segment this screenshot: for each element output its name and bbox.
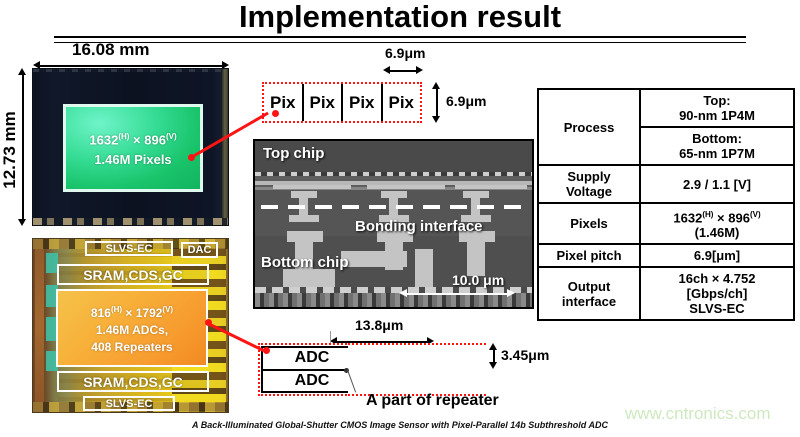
table-row-supply-voltage: SupplyVoltage 2.9 / 1.1 [V] [538,165,794,203]
adc-array-count: 1.46M ADCs, [96,322,168,339]
table-row-pixel-pitch: Pixel pitch 6.9[μm] [538,244,794,267]
die-edge-right [222,69,228,225]
spec-label-output-interface: Outputinterface [538,267,640,320]
pix-width-label: 6.9μm [385,45,425,61]
table-row-output-interface: Outputinterface 16ch × 4.752[Gbps/ch]SLV… [538,267,794,320]
die-pad-row-bottom [33,218,228,225]
adc-width-label: 13.8μm [355,317,403,333]
spec-label-supply-voltage: SupplyVoltage [538,165,640,203]
adc-array-overlay: 816(H) × 1792(V) 1.46M ADCs, 408 Repeate… [56,289,208,367]
sem-label-bonding-interface: Bonding interface [355,218,483,235]
pointer-dot-adc-box [263,347,270,354]
spec-value-process-top: Top:90-nm 1P4M [640,89,794,127]
block-label-slvs-ec-top: SLVS-EC [85,241,173,256]
pixel-array-count: 1.46M Pixels [94,150,171,169]
pix-height-label: 6.9μm [446,93,486,109]
sem-plate-1 [283,269,335,287]
adc-array-resolution: 816(H) × 1792(V) [91,301,173,322]
top-die-height-arrow [18,68,27,226]
sem-metal-line-a [255,172,532,176]
spec-label-pixels: Pixels [538,203,640,244]
spec-value-supply-voltage: 2.9 / 1.1 [V] [640,165,794,203]
spec-value-process-bottom: Bottom:65-nm 1P7M [640,127,794,165]
sem-cross-section: Top chip Bonding interface Bottom chip 1… [253,139,534,309]
die-left-strip [35,239,44,412]
sem-scale-bar [399,289,515,298]
sem-top-line-2 [367,185,445,189]
spec-label-pixel-pitch: Pixel pitch [538,244,640,267]
spec-label-process: Process [538,89,640,165]
adc-height-arrow [489,343,498,369]
pix-height-arrow [432,82,441,123]
bonding-interface-dashed-line [261,205,526,209]
pixel-cell: Pix [304,84,344,121]
repeater-label: A part of repeater [366,392,499,410]
sem-top-line-1 [273,185,351,189]
table-row-pixels: Pixels 1632(H) × 896(V)(1.46M) [538,203,794,244]
top-die-height-label: 12.73 mm [0,111,20,189]
sem-via-1d [287,231,323,242]
block-label-slvs-ec-bottom: SLVS-EC [83,396,175,411]
spec-value-output-interface: 16ch × 4.752[Gbps/ch]SLVS-EC [640,267,794,320]
watermark: www.cntronics.com [625,404,770,424]
adc-box-outline-span [348,343,486,396]
top-die-photo: 1632(H) × 896(V) 1.46M Pixels [32,68,229,226]
block-label-sram-cds-gc-top: SRAM,CDS,GC [57,264,209,285]
die-pad-row-top [33,69,228,72]
adc-cell: ADC [263,371,361,392]
sem-via-1c [289,215,319,222]
sem-label-top-chip: Top chip [263,145,324,162]
pixel-cell: Pix [383,84,421,121]
bottom-die-photo: 816(H) × 1792(V) 1.46M ADCs, 408 Repeate… [32,238,229,413]
spec-table: Process Top:90-nm 1P4M Bottom:65-nm 1P7M… [537,88,795,321]
pix-width-arrow [383,66,423,75]
sem-top-line-3 [455,185,527,189]
pixel-cell-row: Pix Pix Pix Pix [262,82,422,123]
sem-plate-2 [341,251,407,267]
spec-value-pixel-pitch: 6.9[μm] [640,244,794,267]
pixel-array-resolution: 1632(H) × 896(V) [89,127,176,149]
repeater-count: 408 Repeaters [91,339,172,356]
page-title: Implementation result [0,0,800,34]
table-row-process: Process Top:90-nm 1P4M [538,89,794,127]
sem-label-bottom-chip: Bottom chip [261,254,349,271]
adc-height-label: 3.45μm [501,347,549,363]
pixel-array-overlay: 1632(H) × 896(V) 1.46M Pixels [63,104,203,192]
sem-via-4 [415,249,433,287]
pointer-dot-pix-row [272,110,279,117]
sem-scale-label: 10.0 μm [452,272,504,288]
block-label-sram-cds-gc-bottom: SRAM,CDS,GC [57,371,209,392]
spec-value-pixels: 1632(H) × 896(V)(1.46M) [640,203,794,244]
pixel-cell: Pix [343,84,383,121]
pixel-cell: Pix [264,84,304,121]
top-die-width-label: 16.08 mm [72,40,150,60]
sem-via-3e [467,242,485,276]
title-divider [54,36,746,43]
block-label-dac: DAC [181,242,218,258]
